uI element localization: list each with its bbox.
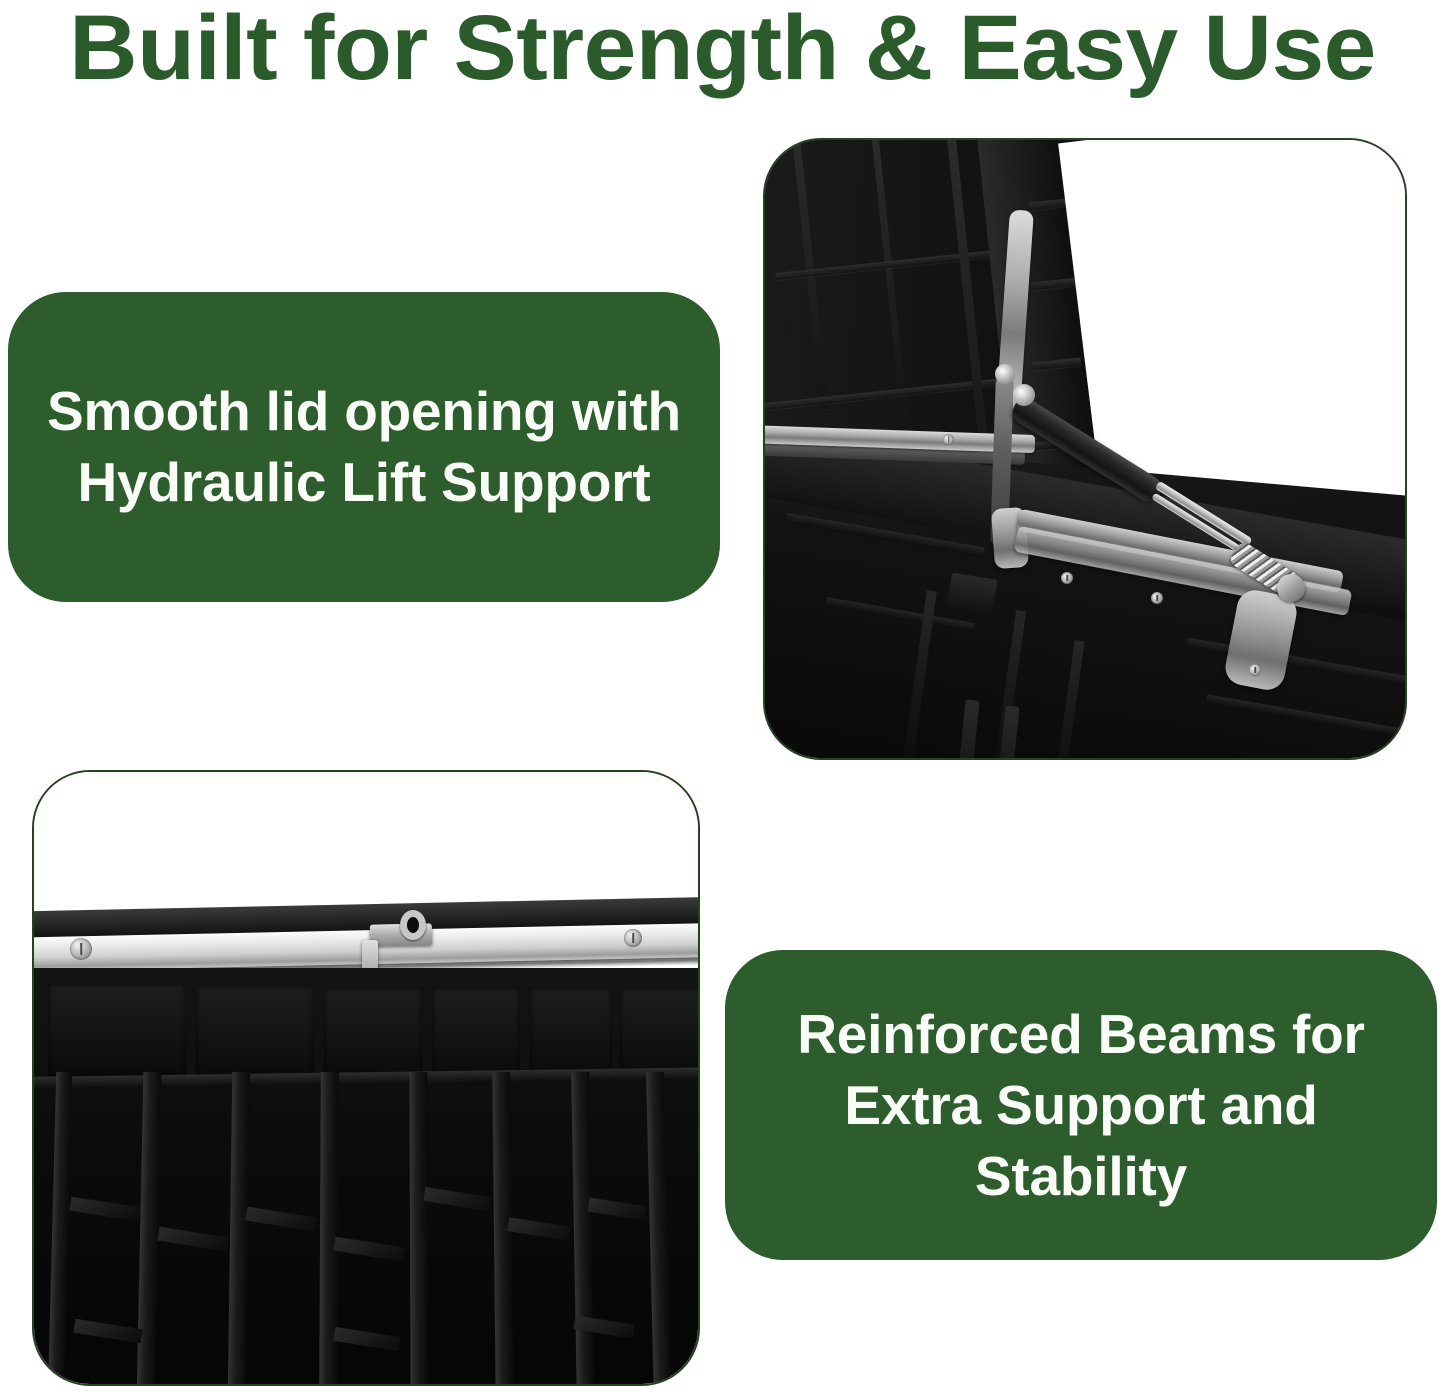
gas-strut-top-pivot — [1013, 384, 1035, 406]
photo-reinforced-beams-scene — [34, 772, 698, 1384]
gas-strut-end-eye — [1277, 574, 1305, 602]
hinge-arm-screw — [943, 434, 954, 445]
hinge-end-plate-screw — [1249, 664, 1261, 676]
lift-bracket-pivot — [995, 364, 1015, 384]
hinge-rail-screw — [1151, 592, 1163, 604]
beam-cell — [530, 988, 612, 1074]
photo-hydraulic-lift-scene — [765, 140, 1405, 758]
callout-hydraulic-lift: Smooth lid opening with Hydraulic Lift S… — [8, 292, 720, 602]
hinge-bracket-eyelet — [400, 910, 426, 940]
callout-reinforced-beams: Reinforced Beams for Extra Support and S… — [725, 950, 1437, 1260]
latch-block — [946, 573, 997, 616]
callout-hydraulic-lift-text: Smooth lid opening with Hydraulic Lift S… — [8, 376, 720, 518]
callout-reinforced-beams-text: Reinforced Beams for Extra Support and S… — [725, 999, 1437, 1212]
hinge-rail-screw — [1061, 572, 1073, 584]
beam-cell — [432, 988, 520, 1076]
rail-screw-left — [70, 938, 92, 960]
page-title: Built for Strength & Easy Use — [0, 0, 1445, 100]
beam-cell — [48, 984, 186, 1076]
rail-screw-right — [624, 929, 642, 947]
photo-reinforced-beams — [32, 770, 700, 1386]
photo-hydraulic-lift-hinge — [763, 138, 1407, 760]
beam-cell — [196, 986, 314, 1078]
beam-cell — [324, 988, 422, 1078]
beam-cell — [620, 988, 698, 1074]
vertical-beam — [409, 1072, 428, 1384]
